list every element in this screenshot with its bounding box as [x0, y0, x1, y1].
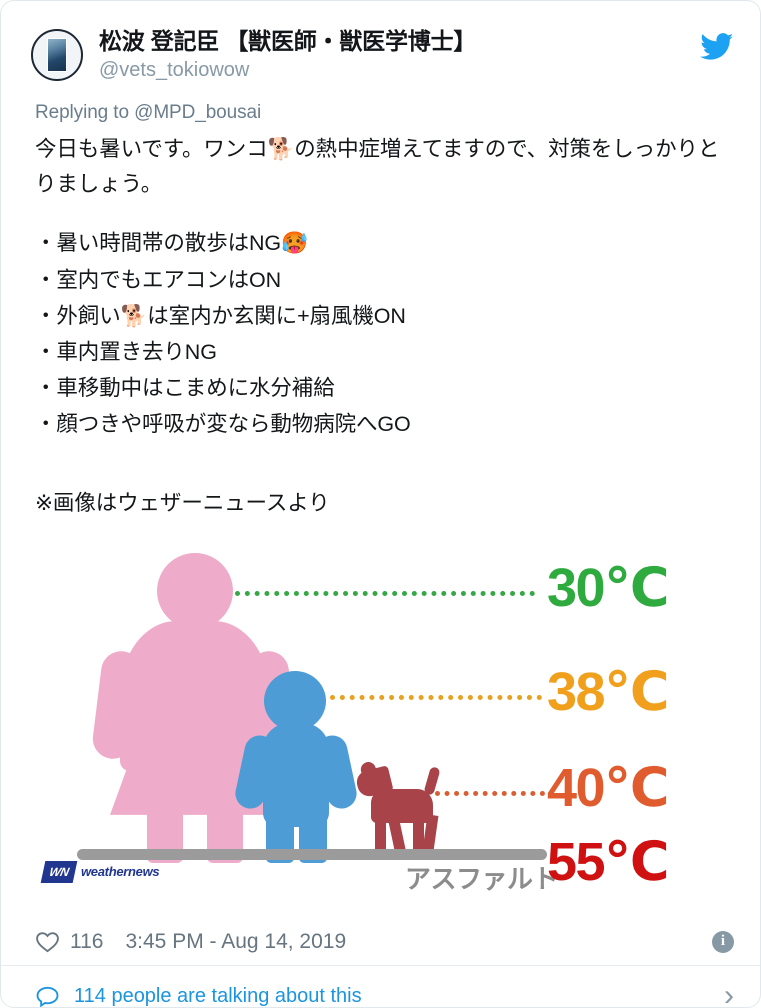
avatar[interactable] [31, 29, 83, 81]
avatar-photo [47, 38, 67, 72]
asphalt-label: アスファルト [405, 859, 558, 896]
leader-line-38 [330, 695, 542, 700]
info-icon[interactable]: i [712, 931, 734, 953]
list-item: ・暑い時間帯の散歩はNG🥵 [35, 225, 734, 261]
replying-to-mention[interactable]: @MPD_bousai [134, 102, 261, 123]
dog-figure-leg [375, 815, 386, 851]
text-spacer [35, 201, 734, 225]
tweet-paragraph: 今日も暑いです。ワンコ🐕の熱中症増えてますので、対策をしっかりとりましょう。 [35, 132, 734, 202]
adult-figure-head [157, 553, 233, 629]
list-item: ・外飼い🐕は室内か玄関に+扇風機ON [35, 298, 734, 334]
replying-to-prefix: Replying to [35, 102, 134, 123]
tip-list: ・暑い時間帯の散歩はNG🥵 ・室内でもエアコンはON ・外飼い🐕は室内か玄関に+… [35, 225, 734, 442]
like-group[interactable]: 116 [35, 930, 103, 954]
heart-icon[interactable] [35, 930, 60, 953]
weathernews-mark-icon: WN [41, 861, 78, 883]
tweet-header: 松波 登記臣 【獣医師・獣医学博士】 @vets_tokiowow [1, 1, 760, 84]
leader-line-30 [235, 591, 535, 596]
list-item: ・室内でもエアコンはON [35, 262, 734, 298]
tweet-body: Replying to @MPD_bousai 今日も暑いです。ワンコ🐕の熱中症… [1, 102, 760, 903]
replying-to-line: Replying to @MPD_bousai [35, 102, 734, 124]
list-item: ・車内置き去りNG [35, 334, 734, 370]
list-item: ・車移動中はこまめに水分補給 [35, 370, 734, 406]
conversation-text: 114 people are talking about this [74, 985, 362, 1008]
weathernews-wordmark: weathernews [81, 864, 159, 879]
list-item: ・顔つきや呼吸が変なら動物病院へGO [35, 406, 734, 442]
temperature-reading-55: 55℃ [547, 835, 668, 889]
leader-line-40 [435, 791, 545, 796]
like-count: 116 [70, 930, 103, 954]
conversation-link[interactable]: 114 people are talking about this [35, 985, 362, 1008]
tweet-meta-row: 116 3:45 PM - Aug 14, 2019 i [1, 919, 760, 965]
temperature-reading-38: 38℃ [547, 665, 668, 719]
tweet-timestamp[interactable]: 3:45 PM - Aug 14, 2019 [125, 930, 346, 954]
chevron-right-icon[interactable]: › [724, 981, 734, 1008]
weathernews-logo: WN weathernews [43, 861, 159, 883]
temperature-reading-30: 30℃ [547, 561, 668, 615]
temperature-infographic[interactable]: アスファルト 30℃ 38℃ 40℃ 55℃ WN weathernews [35, 543, 735, 903]
temperature-reading-40: 40℃ [547, 761, 668, 815]
speech-bubble-icon [35, 985, 60, 1008]
conversation-bar[interactable]: 114 people are talking about this › [1, 965, 760, 1008]
identity-block: 松波 登記臣 【獣医師・獣医学博士】 @vets_tokiowow [99, 27, 692, 84]
image-source-note: ※画像はウェザーニュースより [35, 486, 734, 521]
display-name[interactable]: 松波 登記臣 【獣医師・獣医学博士】 [99, 27, 692, 56]
child-figure-head [264, 671, 326, 731]
user-handle[interactable]: @vets_tokiowow [99, 57, 692, 84]
tweet-card: 松波 登記臣 【獣医師・獣医学博士】 @vets_tokiowow Replyi… [0, 0, 761, 1008]
twitter-bird-icon[interactable] [700, 33, 734, 61]
